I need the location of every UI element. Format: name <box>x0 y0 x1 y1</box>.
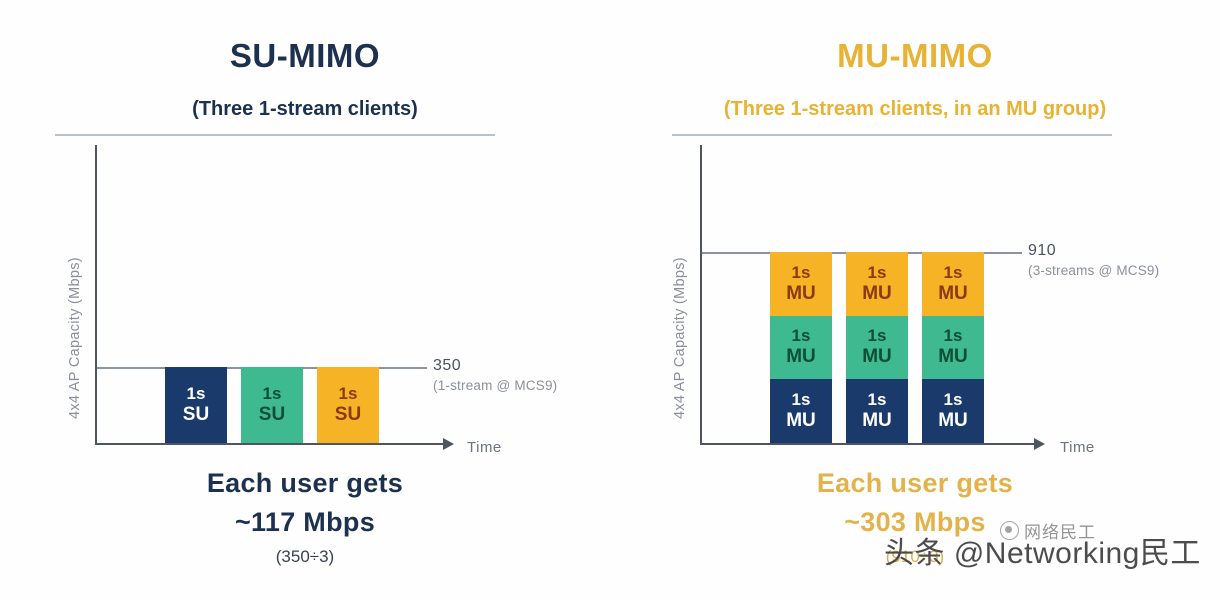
su-bar-2-mode-label: SU <box>259 404 285 426</box>
su-conclusion-line-3: (350÷3) <box>0 547 610 567</box>
su-y-axis <box>95 145 97 445</box>
mu-capacity-value: 910 <box>1028 242 1056 260</box>
su-mimo-title: SU-MIMO <box>0 37 610 75</box>
mu-bar-2-segment-3: 1s MU <box>846 252 908 316</box>
su-conclusion-line-2: ~117 Mbps <box>0 507 610 538</box>
mu-bar-2-seg-3-stream-label: 1s <box>868 263 887 283</box>
mu-bar-2-segment-1: 1s MU <box>846 379 908 443</box>
su-y-axis-label: 4x4 AP Capacity (Mbps) <box>67 257 83 419</box>
su-bar-2-segment: 1s SU <box>241 367 303 443</box>
mu-bar-1-seg-2-stream-label: 1s <box>792 326 811 346</box>
mu-bar-3-seg-3-stream-label: 1s <box>944 263 963 283</box>
mu-bar-3-seg-3-mode-label: MU <box>938 283 968 305</box>
mu-bar-3-seg-2-stream-label: 1s <box>944 326 963 346</box>
mu-mimo-title: MU-MIMO <box>610 37 1220 75</box>
su-bar-1-segment: 1s SU <box>165 367 227 443</box>
mu-y-axis <box>700 145 702 445</box>
su-bar-client-2: 1s SU <box>241 367 303 443</box>
su-x-axis-arrow-icon <box>443 438 454 450</box>
mu-bar-3-seg-1-stream-label: 1s <box>944 390 963 410</box>
mu-bar-client-1: 1s MU 1s MU 1s MU <box>770 252 832 443</box>
mu-bar-1-seg-1-mode-label: MU <box>786 410 816 432</box>
panel-su-mimo: SU-MIMO (Three 1-stream clients) 4x4 AP … <box>0 0 610 600</box>
su-capacity-note: (1-stream @ MCS9) <box>433 378 557 393</box>
su-mimo-subtitle: (Three 1-stream clients) <box>0 98 610 121</box>
su-capacity-value: 350 <box>433 357 461 375</box>
su-bar-1-mode-label: SU <box>183 404 209 426</box>
su-bar-2-stream-label: 1s <box>263 384 282 404</box>
mu-bar-1-seg-1-stream-label: 1s <box>792 390 811 410</box>
mu-chart-plot-area: 4x4 AP Capacity (Mbps) Time 910 (3-strea… <box>700 145 1040 445</box>
mu-bar-3-seg-2-mode-label: MU <box>938 346 968 368</box>
mu-bar-3-segment-1: 1s MU <box>922 379 984 443</box>
mu-bar-1-segment-1: 1s MU <box>770 379 832 443</box>
su-header-divider <box>55 134 495 136</box>
su-chart-plot-area: 4x4 AP Capacity (Mbps) Time 350 (1-strea… <box>95 145 450 445</box>
mu-bar-2-seg-2-mode-label: MU <box>862 346 892 368</box>
mu-bar-1-segment-2: 1s MU <box>770 316 832 380</box>
watermark-handle: 头条 @Networking民工 <box>884 528 1201 572</box>
mu-x-axis-label: Time <box>1060 439 1095 456</box>
mu-x-axis-arrow-icon <box>1034 438 1045 450</box>
su-x-axis-label: Time <box>467 439 502 456</box>
mu-y-axis-label: 4x4 AP Capacity (Mbps) <box>672 257 688 419</box>
su-bar-1-stream-label: 1s <box>187 384 206 404</box>
mu-bar-1-seg-2-mode-label: MU <box>786 346 816 368</box>
mu-bar-client-2: 1s MU 1s MU 1s MU <box>846 252 908 443</box>
su-bar-3-stream-label: 1s <box>339 384 358 404</box>
su-x-axis <box>95 443 445 445</box>
mu-bar-2-seg-1-mode-label: MU <box>862 410 892 432</box>
su-conclusion-line-1: Each user gets <box>0 468 610 499</box>
mu-bar-1-segment-3: 1s MU <box>770 252 832 316</box>
mu-bar-client-3: 1s MU 1s MU 1s MU <box>922 252 984 443</box>
su-bar-3-mode-label: SU <box>335 404 361 426</box>
mu-mimo-subtitle: (Three 1-stream clients, in an MU group) <box>610 98 1220 121</box>
mu-bar-3-seg-1-mode-label: MU <box>938 410 968 432</box>
su-bar-client-1: 1s SU <box>165 367 227 443</box>
mu-bar-2-segment-2: 1s MU <box>846 316 908 380</box>
mu-conclusion-line-1: Each user gets <box>610 468 1220 499</box>
diagram-canvas: SU-MIMO (Three 1-stream clients) 4x4 AP … <box>0 0 1220 600</box>
su-conclusion: Each user gets ~117 Mbps (350÷3) <box>0 468 610 567</box>
mu-bar-2-seg-1-stream-label: 1s <box>868 390 887 410</box>
mu-bar-2-seg-2-stream-label: 1s <box>868 326 887 346</box>
mu-bar-1-seg-3-mode-label: MU <box>786 283 816 305</box>
mu-bar-3-segment-3: 1s MU <box>922 252 984 316</box>
mu-bar-3-segment-2: 1s MU <box>922 316 984 380</box>
mu-header-divider <box>672 134 1112 136</box>
su-bar-client-3: 1s SU <box>317 367 379 443</box>
mu-bar-2-seg-3-mode-label: MU <box>862 283 892 305</box>
mu-bar-1-seg-3-stream-label: 1s <box>792 263 811 283</box>
su-bar-3-segment: 1s SU <box>317 367 379 443</box>
mu-x-axis <box>700 443 1036 445</box>
mu-capacity-note: (3-streams @ MCS9) <box>1028 263 1159 278</box>
